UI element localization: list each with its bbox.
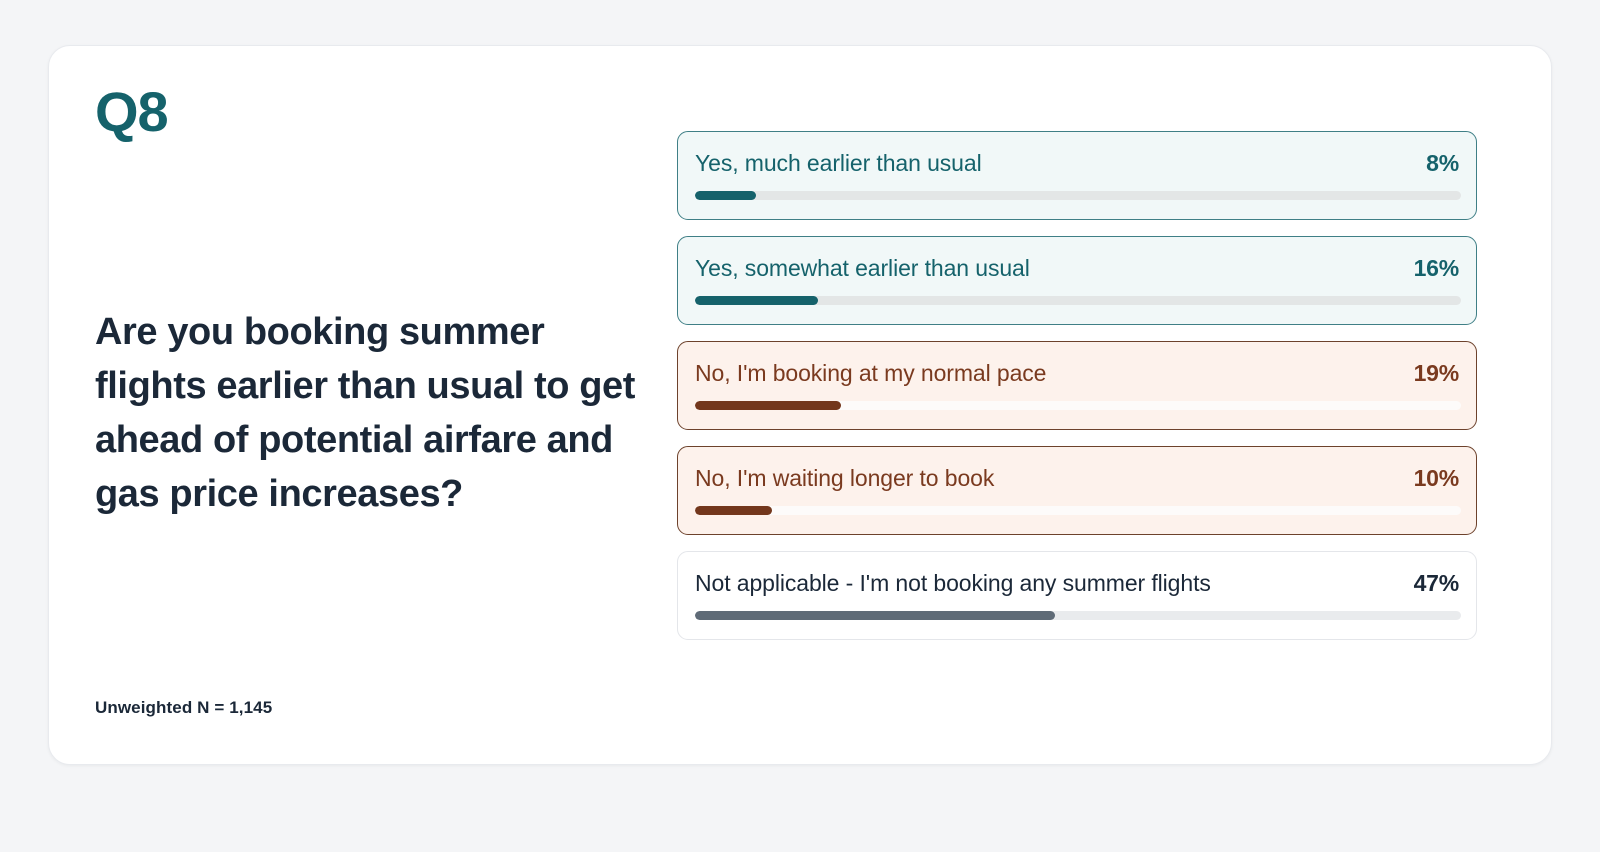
result-bar-track [695,191,1461,200]
result-bar-fill [695,611,1055,620]
result-row[interactable]: Yes, somewhat earlier than usual16% [677,236,1477,325]
result-bar-track [695,611,1461,620]
results-list: Yes, much earlier than usual8%Yes, somew… [677,131,1477,640]
result-option-label: Yes, somewhat earlier than usual [695,255,1030,282]
result-row[interactable]: Yes, much earlier than usual8% [677,131,1477,220]
result-header: No, I'm booking at my normal pace19% [695,360,1459,387]
result-row[interactable]: No, I'm booking at my normal pace19% [677,341,1477,430]
result-row[interactable]: Not applicable - I'm not booking any sum… [677,551,1477,640]
result-bar-fill [695,296,818,305]
result-percentage-value: 19% [1414,360,1459,387]
result-option-label: Not applicable - I'm not booking any sum… [695,570,1211,597]
result-option-label: No, I'm booking at my normal pace [695,360,1046,387]
sample-size-note: Unweighted N = 1,145 [95,698,272,718]
result-bar-track [695,296,1461,305]
result-header: Not applicable - I'm not booking any sum… [695,570,1459,597]
result-bar-track [695,506,1461,515]
survey-result-card: Q8 Are you booking summer flights earlie… [48,45,1552,765]
result-header: Yes, much earlier than usual8% [695,150,1459,177]
result-percentage-value: 10% [1414,465,1459,492]
result-bar-fill [695,506,772,515]
result-option-label: No, I'm waiting longer to book [695,465,994,492]
result-header: No, I'm waiting longer to book10% [695,465,1459,492]
result-row[interactable]: No, I'm waiting longer to book10% [677,446,1477,535]
result-percentage-value: 16% [1414,255,1459,282]
result-header: Yes, somewhat earlier than usual16% [695,255,1459,282]
question-number: Q8 [95,84,655,140]
result-bar-track [695,401,1461,410]
result-bar-fill [695,191,756,200]
question-text: Are you booking summer flights earlier t… [95,306,635,522]
result-bar-fill [695,401,841,410]
question-panel: Q8 Are you booking summer flights earlie… [95,84,655,734]
result-percentage-value: 8% [1426,150,1459,177]
result-option-label: Yes, much earlier than usual [695,150,982,177]
result-percentage-value: 47% [1414,570,1459,597]
